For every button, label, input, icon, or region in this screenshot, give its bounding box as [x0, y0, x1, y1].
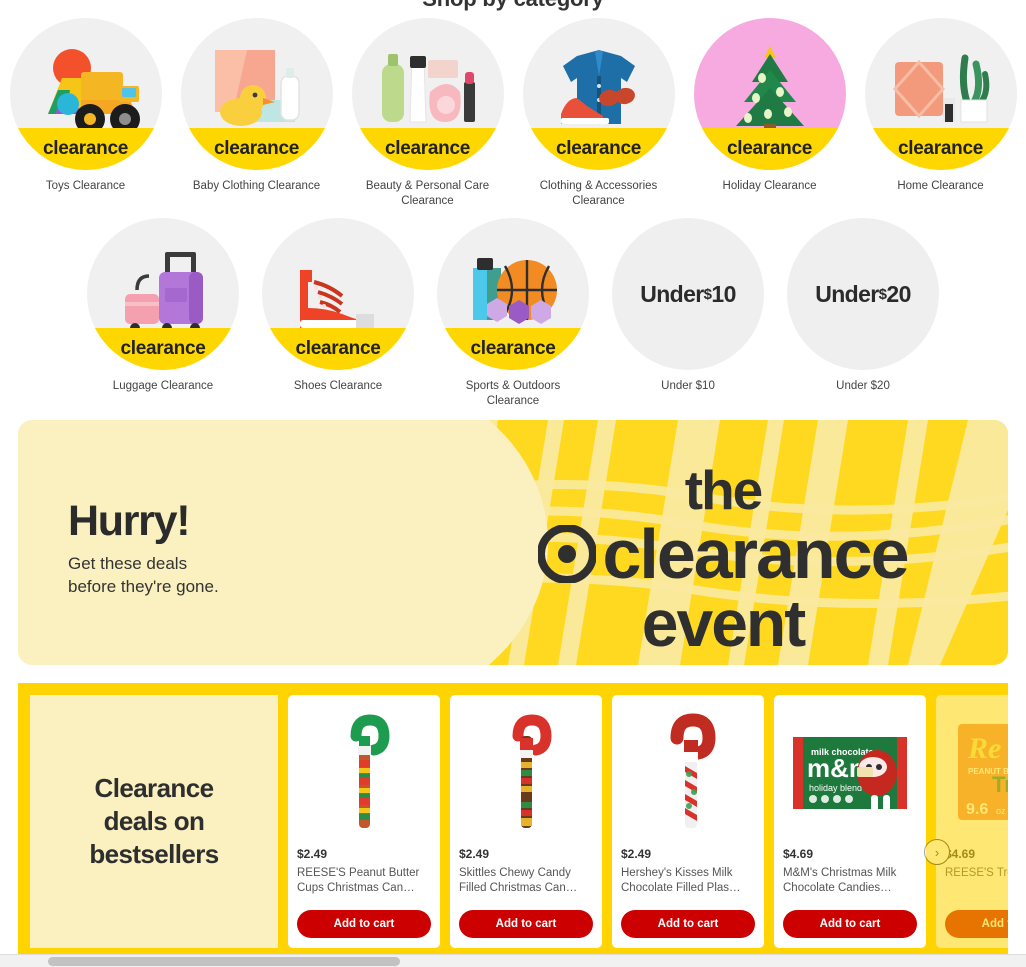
category-thumb: clearance	[694, 18, 846, 170]
category-label: Holiday Clearance	[695, 179, 845, 194]
banner-subline: Get these deals before they're gone.	[68, 552, 219, 598]
category-thumb: clearance	[437, 218, 589, 370]
category-thumb: clearance	[87, 218, 239, 370]
category-label: Home Clearance	[866, 179, 1016, 194]
svg-text:9.6: 9.6	[966, 801, 988, 818]
event-clearance-row: clearance	[473, 518, 973, 590]
clearance-badge: clearance	[87, 328, 239, 370]
horizontal-scrollbar[interactable]	[0, 954, 1026, 967]
under-20-prefix: Under	[815, 281, 878, 308]
event-word-the: the	[473, 462, 973, 518]
category-home-clearance[interactable]: clearance Home Clearance	[863, 18, 1019, 209]
clearance-page: Shop by category	[0, 0, 1026, 967]
product-title: M&M's Christmas Milk Chocolate Candies…	[783, 866, 917, 896]
promo-line-3: bestsellers	[89, 838, 218, 871]
category-thumb: clearance	[865, 18, 1017, 170]
product-card[interactable]: $2.49 Skittles Chewy Candy Filled Christ…	[450, 695, 602, 948]
product-price: $4.69	[945, 847, 1008, 861]
product-price: $2.49	[297, 847, 431, 861]
clearance-badge: clearance	[352, 128, 504, 170]
mms-holiday-bag-icon: milk chocolate m&m's holiday blend	[783, 703, 917, 843]
clearance-badge: clearance	[181, 128, 333, 170]
svg-text:holiday blend: holiday blend	[809, 783, 862, 793]
category-baby-clothing-clearance[interactable]: clearance Baby Clothing Clearance	[179, 18, 335, 209]
clearance-badge: clearance	[10, 128, 162, 170]
page-title: Shop by category	[0, 0, 1026, 12]
carousel-next-button[interactable]: ›	[924, 839, 950, 865]
banner-subline-1: Get these deals	[68, 552, 219, 575]
category-thumb: clearance	[262, 218, 414, 370]
category-thumb: clearance	[181, 18, 333, 170]
promo-line-2: deals on	[89, 805, 218, 838]
category-label: Sports & Outdoors Clearance	[438, 379, 588, 409]
banner-headline: Hurry!	[68, 498, 219, 544]
product-card[interactable]: $2.49 Hershey's Kisses Milk Chocolate Fi…	[612, 695, 764, 948]
carousel-promo-text: Clearance deals on bestsellers	[89, 772, 218, 871]
clearance-badge: clearance	[694, 128, 846, 170]
category-label: Under $20	[788, 379, 938, 394]
product-price: $2.49	[621, 847, 755, 861]
target-bullseye-icon	[538, 525, 596, 583]
under-10-prefix: Under	[640, 281, 703, 308]
add-to-cart-button[interactable]: Add to cart	[783, 910, 917, 938]
category-label: Under $10	[613, 379, 763, 394]
reeses-trees-bag-icon: Re PEANUT BUTTER Tr 9.6 oz	[945, 703, 1008, 843]
product-title: Hershey's Kisses Milk Chocolate Filled P…	[621, 866, 755, 896]
currency-symbol: $	[704, 286, 712, 303]
category-thumb: clearance	[10, 18, 162, 170]
category-label: Baby Clothing Clearance	[182, 179, 332, 194]
category-label: Shoes Clearance	[263, 379, 413, 394]
add-to-cart-button[interactable]: Add to cart	[945, 910, 1008, 938]
under-20-amount: 20	[886, 281, 910, 308]
category-toys-clearance[interactable]: clearance Toys Clearance	[8, 18, 164, 209]
add-to-cart-button[interactable]: Add to cart	[297, 910, 431, 938]
category-thumb: clearance	[523, 18, 675, 170]
clearance-badge: clearance	[437, 328, 589, 370]
clearance-event-banner[interactable]: Hurry! Get these deals before they're go…	[18, 420, 1008, 665]
currency-symbol: $	[879, 286, 887, 303]
category-shoes-clearance[interactable]: clearance Shoes Clearance	[260, 218, 416, 409]
clearance-badge: clearance	[865, 128, 1017, 170]
promo-line-1: Clearance	[89, 772, 218, 805]
category-thumb: clearance	[352, 18, 504, 170]
product-title: REESE'S Peanut Butter Cups Christmas Can…	[297, 866, 431, 896]
svg-text:Tr: Tr	[992, 772, 1008, 797]
under-10-circle: Under $10	[612, 218, 764, 370]
svg-text:Re: Re	[967, 732, 1001, 765]
category-under-20[interactable]: Under $20 Under $20	[785, 218, 941, 409]
category-beauty-personal-care-clearance[interactable]: clearance Beauty & Personal Care Clearan…	[350, 18, 506, 209]
product-card[interactable]: › Re PEANUT BUTTER Tr 9.6 oz $4.69 REESE…	[936, 695, 1008, 948]
event-word-event: event	[473, 590, 973, 656]
clearance-badge: clearance	[262, 328, 414, 370]
bestsellers-carousel: Clearance deals on bestsellers $2.49 REE	[18, 683, 1008, 960]
banner-subline-2: before they're gone.	[68, 575, 219, 598]
category-label: Beauty & Personal Care Clearance	[353, 179, 503, 209]
green-candy-cane-icon	[297, 703, 431, 843]
category-clothing-accessories-clearance[interactable]: clearance Clothing & Accessories Clearan…	[521, 18, 677, 209]
clearance-badge: clearance	[523, 128, 675, 170]
product-price: $4.69	[783, 847, 917, 861]
banner-copy: Hurry! Get these deals before they're go…	[68, 498, 219, 598]
product-price: $2.49	[459, 847, 593, 861]
under-20-circle: Under $20	[787, 218, 939, 370]
category-label: Toys Clearance	[11, 179, 161, 194]
product-title: REESE'S Trees Ch…	[945, 866, 1008, 896]
product-card[interactable]: milk chocolate m&m's holiday blend $4.69…	[774, 695, 926, 948]
event-word-clearance: clearance	[602, 518, 907, 590]
product-card[interactable]: $2.49 REESE'S Peanut Butter Cups Christm…	[288, 695, 440, 948]
category-sports-outdoors-clearance[interactable]: clearance Sports & Outdoors Clearance	[435, 218, 591, 409]
product-title: Skittles Chewy Candy Filled Christmas Ca…	[459, 866, 593, 896]
carousel-promo-tile: Clearance deals on bestsellers	[30, 695, 278, 948]
clearance-event-lockup: the clearance event	[473, 462, 973, 656]
add-to-cart-button[interactable]: Add to cart	[621, 910, 755, 938]
hersheys-candy-cane-icon	[621, 703, 755, 843]
category-holiday-clearance[interactable]: clearance Holiday Clearance	[692, 18, 848, 209]
svg-text:oz: oz	[996, 806, 1006, 816]
category-row-1: clearance Toys Clearance	[0, 18, 1026, 209]
category-row-2: clearance Luggage Clearance	[85, 218, 941, 409]
add-to-cart-button[interactable]: Add to cart	[459, 910, 593, 938]
category-label: Luggage Clearance	[88, 379, 238, 394]
skittles-candy-cane-icon	[459, 703, 593, 843]
scrollbar-thumb[interactable]	[48, 957, 400, 966]
under-10-amount: 10	[711, 281, 735, 308]
category-under-10[interactable]: Under $10 Under $10	[610, 218, 766, 409]
category-luggage-clearance[interactable]: clearance Luggage Clearance	[85, 218, 241, 409]
category-label: Clothing & Accessories Clearance	[524, 179, 674, 209]
